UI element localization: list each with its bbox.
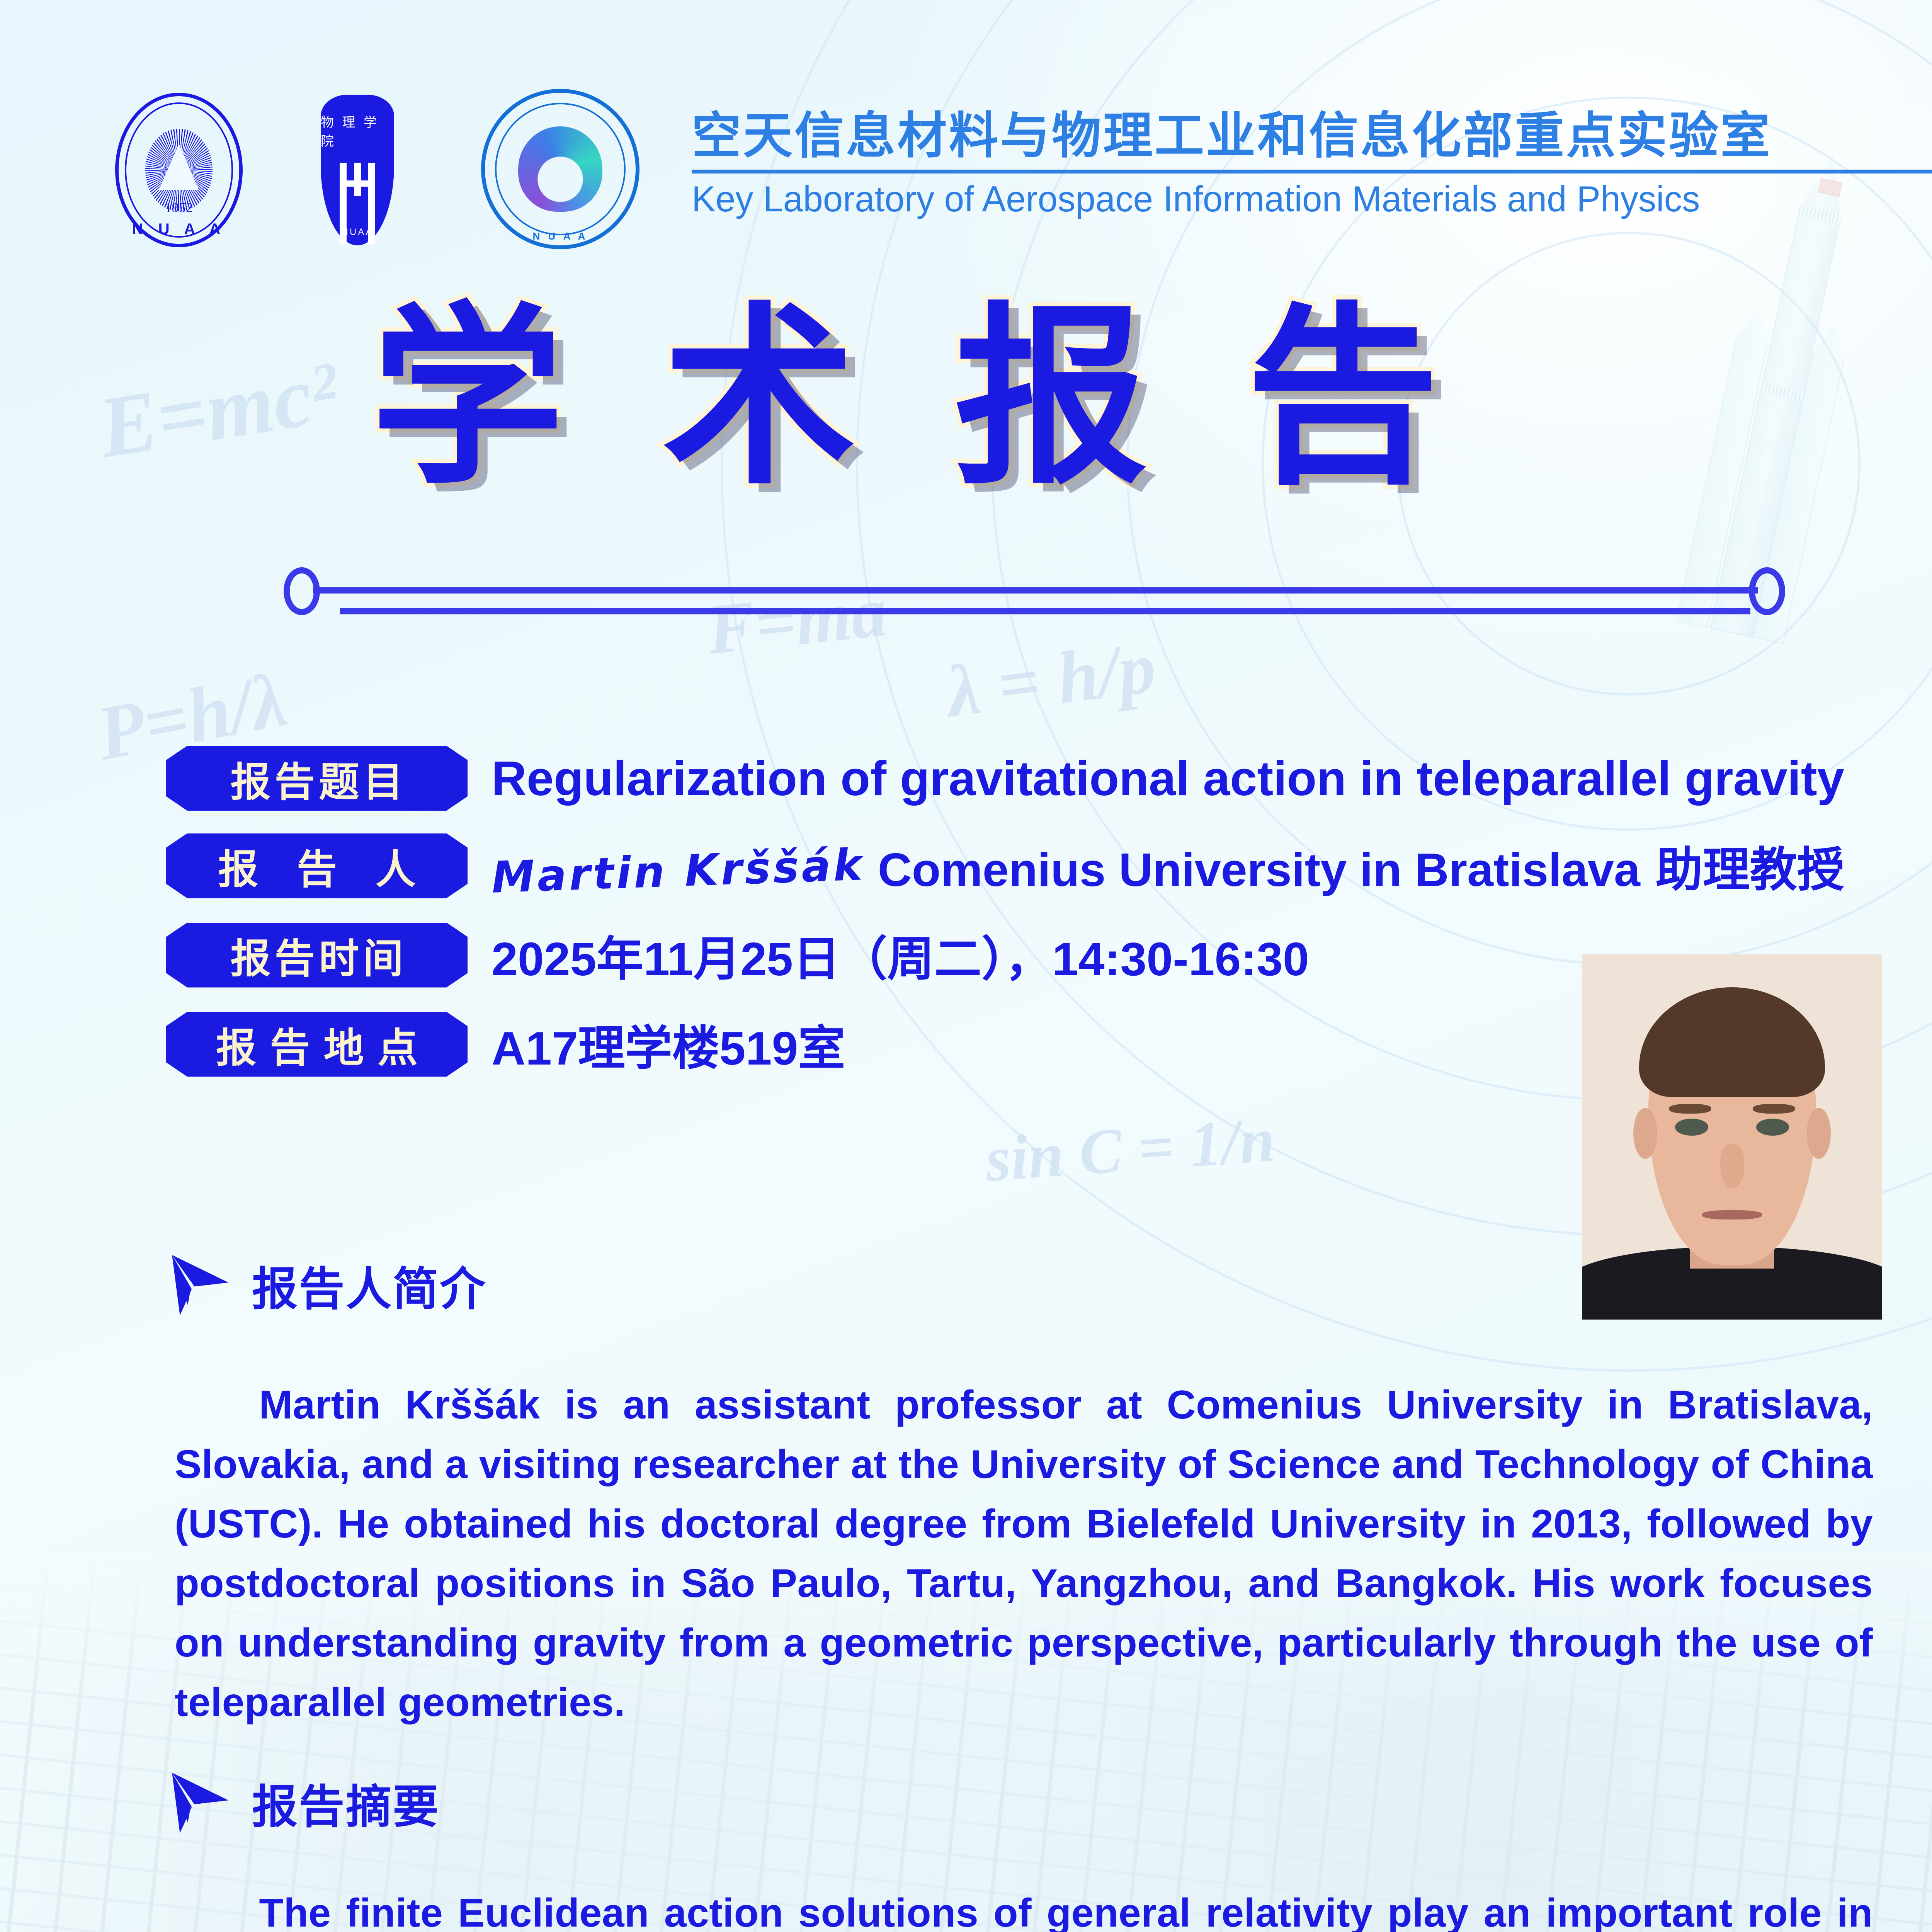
info-value-place: A17理学楼519室 — [492, 1010, 845, 1078]
info-label-speaker: 报 告 人 — [166, 833, 468, 898]
pennant-icon — [166, 1770, 236, 1836]
info-label-place: 报告地点 — [166, 1012, 468, 1077]
laboratory-title-en: Key Laboratory of Aerospace Information … — [692, 178, 1932, 220]
poster-title-block: 学 术 报 告 — [0, 294, 1932, 603]
header-divider-rule — [692, 170, 1932, 173]
abstract-text: The finite Euclidean action solutions of… — [175, 1884, 1873, 1932]
formula-watermark-debroglie: λ = h/p — [942, 625, 1160, 734]
title-deco-circle-left — [284, 567, 320, 615]
info-label-topic: 报告题目 — [166, 746, 468, 811]
section-heading-abstract: 报告摘要 — [166, 1770, 440, 1836]
info-row-topic: 报告题目 Regularization of gravitational act… — [166, 746, 1905, 811]
page-title: 学 术 报 告 — [371, 301, 1462, 495]
nuaa-university-seal-logo: 1952 N U A A — [115, 93, 243, 247]
section-title-abstract: 报告摘要 — [252, 1770, 440, 1836]
speaker-rank: 助理教授 — [1656, 832, 1844, 900]
bio-paragraph-1: Martin Krššák is an assistant professor … — [175, 1376, 1873, 1732]
physics-college-shield-logo: 物 理 学 院 NUAA — [321, 95, 394, 245]
pennant-icon — [166, 1252, 236, 1318]
shield-college-label: 物 理 学 院 — [321, 112, 394, 150]
seal-letters-label: N U A A — [119, 221, 239, 238]
info-row-speaker: 报 告 人 Martin Krššák Comenius University … — [166, 832, 1905, 900]
info-value-topic: Regularization of gravitational action i… — [492, 750, 1844, 806]
shield-en-label: NUAA — [342, 227, 374, 238]
seal-year-label: 1952 — [119, 199, 239, 216]
poster-header: 1952 N U A A 物 理 学 院 NUAA N U A A 空天信息材料… — [0, 0, 1932, 270]
info-value-speaker: Martin Krššák Comenius University in Bra… — [492, 832, 1844, 900]
info-value-time: 2025年11月25日（周二），14:30-16:30 — [492, 921, 1309, 989]
speaker-affiliation: Comenius University in Bratislava — [878, 843, 1640, 897]
laboratory-title-cn: 空天信息材料与物理工业和信息化部重点实验室 — [692, 108, 1932, 163]
lab-seal-letters: N U A A — [485, 230, 636, 242]
speaker-name: Martin Krššák — [491, 840, 866, 903]
title-underline-decoration — [267, 568, 1797, 614]
section-heading-bio: 报告人简介 — [166, 1252, 487, 1318]
poster-canvas: E=mc² P=h/λ F=ma sin C = 1/n λ = h/p NUA… — [0, 0, 1932, 1932]
title-deco-circle-right — [1749, 567, 1785, 615]
key-laboratory-seal-logo: N U A A — [481, 89, 639, 249]
lab-atom-mark-icon — [518, 126, 602, 212]
speaker-portrait-photo — [1582, 954, 1882, 1320]
abstract-paragraph-1: The finite Euclidean action solutions of… — [175, 1884, 1873, 1932]
laboratory-title-block: 空天信息材料与物理工业和信息化部重点实验室 Key Laboratory of … — [692, 108, 1932, 220]
speaker-bio-text: Martin Krššák is an assistant professor … — [175, 1376, 1873, 1732]
section-title-bio: 报告人简介 — [252, 1252, 487, 1318]
formula-watermark-snell: sin C = 1/n — [983, 1103, 1277, 1196]
info-label-time: 报告时间 — [166, 923, 468, 988]
